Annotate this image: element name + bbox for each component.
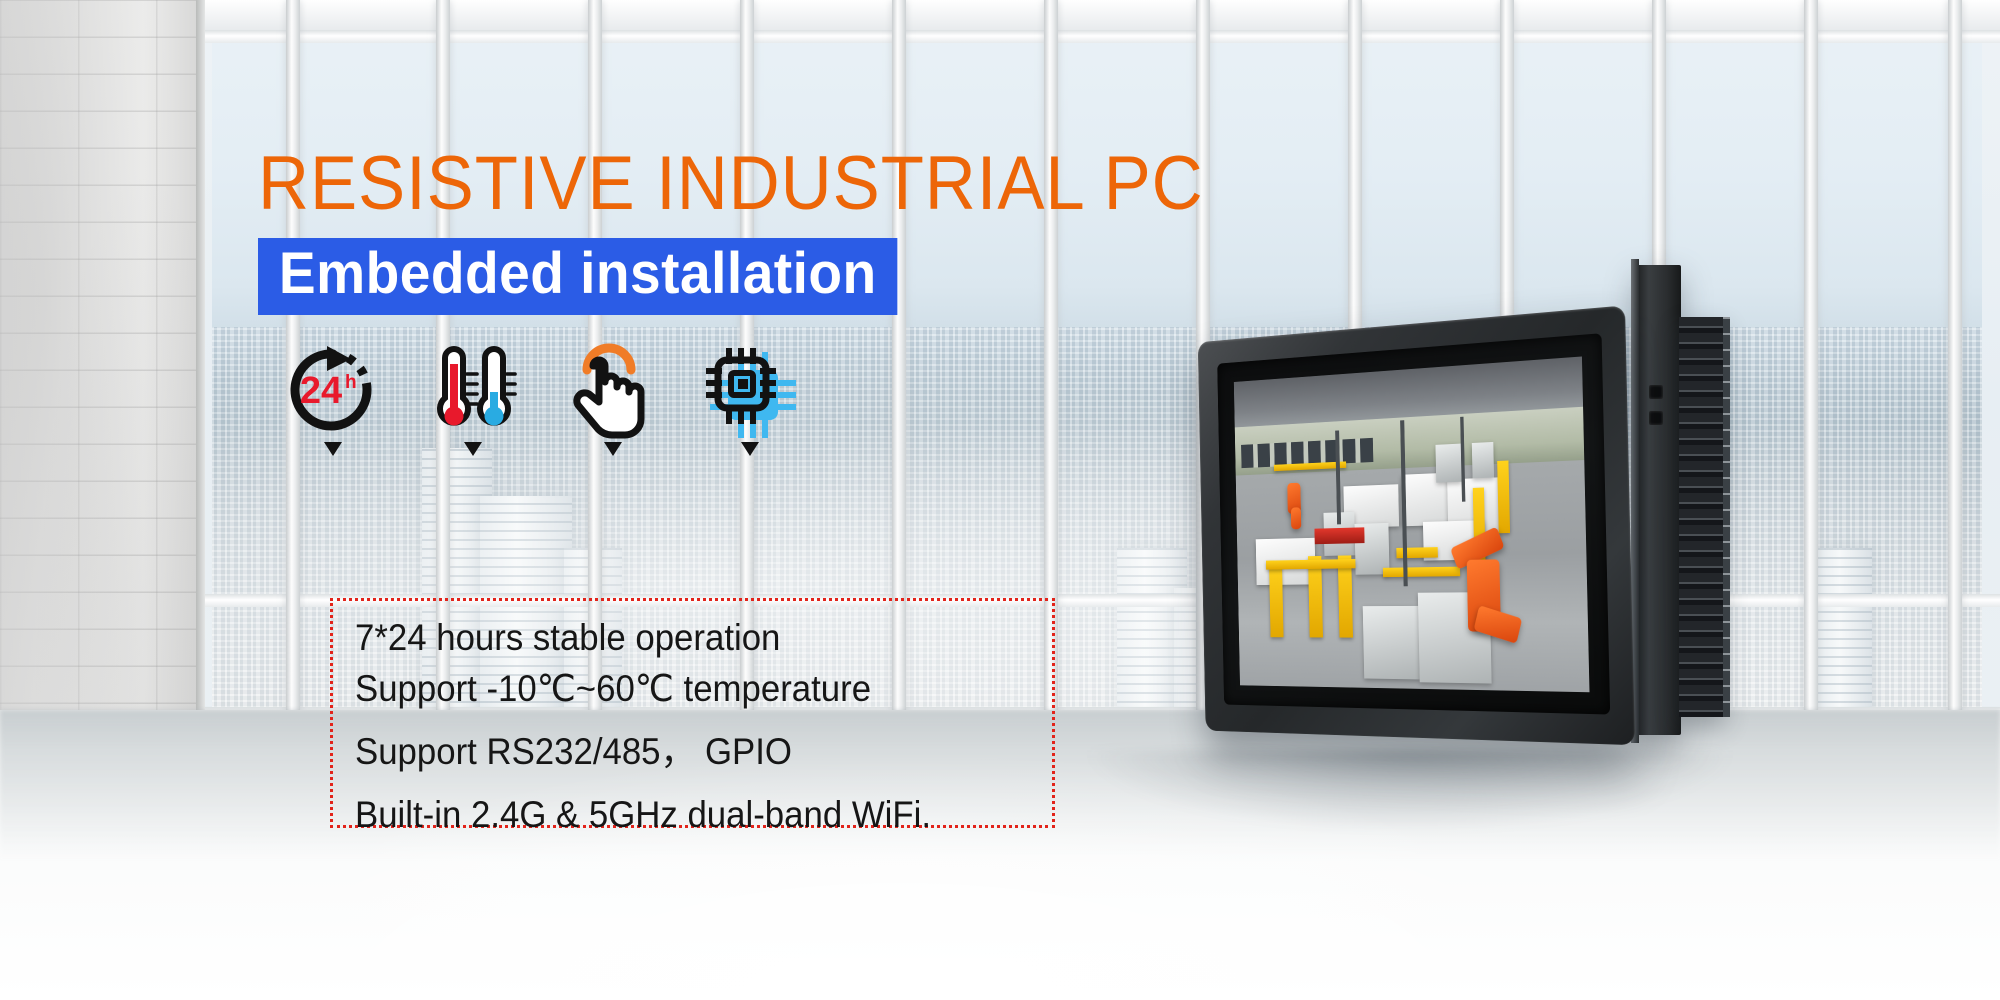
svg-text:h: h	[345, 372, 357, 393]
page-title: RESISTIVE INDUSTRIAL PC	[258, 146, 1204, 222]
subtitle-banner: Embedded installation	[258, 238, 898, 315]
24h-operation-icon: 24 h	[281, 340, 385, 440]
window-transom	[205, 30, 2000, 43]
svg-text:24: 24	[300, 370, 342, 412]
io-port	[1649, 385, 1663, 399]
touch-hand-icon	[561, 340, 665, 440]
icon-pointer-triangle	[604, 442, 622, 456]
cpu-chip-icon	[698, 340, 802, 440]
factory-automation-photo	[1234, 356, 1590, 692]
feature-line: Support -10℃~60℃ temperature	[355, 670, 1010, 707]
icon-pointer-triangle	[741, 442, 759, 456]
product-photo-group	[1050, 250, 1950, 830]
icon-cell-cpu	[695, 338, 805, 442]
product-side-view	[1635, 255, 1715, 755]
feature-line: Built-in 2.4G & 5GHz dual-band WiFi.	[355, 796, 1010, 833]
feature-list-box: 7*24 hours stable operation Support -10℃…	[330, 598, 1055, 828]
feature-icon-row: 24 h	[270, 338, 830, 458]
banner-stage: RESISTIVE INDUSTRIAL PC Embedded install…	[0, 0, 2000, 1000]
feature-line: 7*24 hours stable operation	[355, 619, 1010, 656]
monitor-inner-bezel	[1217, 333, 1610, 714]
temperature-range-icon	[421, 340, 525, 440]
io-port	[1649, 411, 1663, 425]
product-front-view	[1198, 305, 1635, 745]
monitor-bezel	[1198, 305, 1635, 745]
monitor-screen	[1234, 356, 1590, 692]
icon-cell-touch	[558, 338, 668, 442]
feature-line: Support RS232/485， GPIO	[355, 733, 1010, 770]
product-floor-shadow	[1090, 750, 1730, 830]
icon-cell-24h: 24 h	[278, 338, 388, 442]
icon-cell-temperature	[418, 338, 528, 442]
window-mullion	[1948, 0, 1962, 716]
heat-sink-fins	[1679, 317, 1725, 717]
side-chassis-plate	[1635, 265, 1681, 735]
window-top-frame	[205, 0, 2000, 30]
icon-pointer-triangle	[464, 442, 482, 456]
icon-pointer-triangle	[324, 442, 342, 456]
